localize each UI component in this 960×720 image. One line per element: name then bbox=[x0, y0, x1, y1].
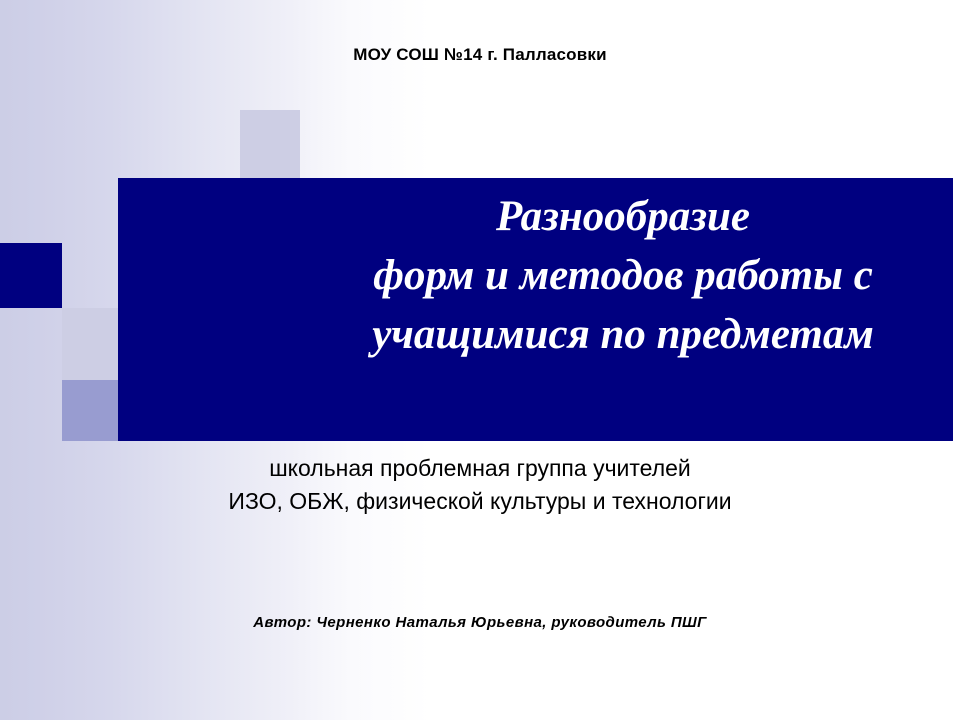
mosaic-square-navy bbox=[0, 243, 62, 308]
school-name-header: МОУ СОШ №14 г. Палласовки bbox=[0, 45, 960, 65]
title-line-3: учащимися по предметам bbox=[298, 306, 948, 365]
author-credit: Автор: Черненко Наталья Юрьевна, руковод… bbox=[0, 614, 960, 631]
subtitle-line-1: школьная проблемная группа учителей bbox=[0, 452, 960, 485]
title-panel: Разнообразие форм и методов работы с уча… bbox=[118, 178, 953, 441]
mosaic-square bbox=[62, 380, 120, 441]
subtitle-line-2: ИЗО, ОБЖ, физической культуры и технолог… bbox=[0, 485, 960, 518]
mosaic-square bbox=[240, 110, 300, 178]
presentation-slide: МОУ СОШ №14 г. Палласовки Разнообразие ф… bbox=[0, 0, 960, 720]
slide-subtitle: школьная проблемная группа учителей ИЗО,… bbox=[0, 452, 960, 517]
title-line-2: форм и методов работы с bbox=[298, 247, 948, 306]
mosaic-square bbox=[62, 308, 120, 380]
slide-title: Разнообразие форм и методов работы с уча… bbox=[298, 188, 948, 365]
title-line-1: Разнообразие bbox=[298, 188, 948, 247]
